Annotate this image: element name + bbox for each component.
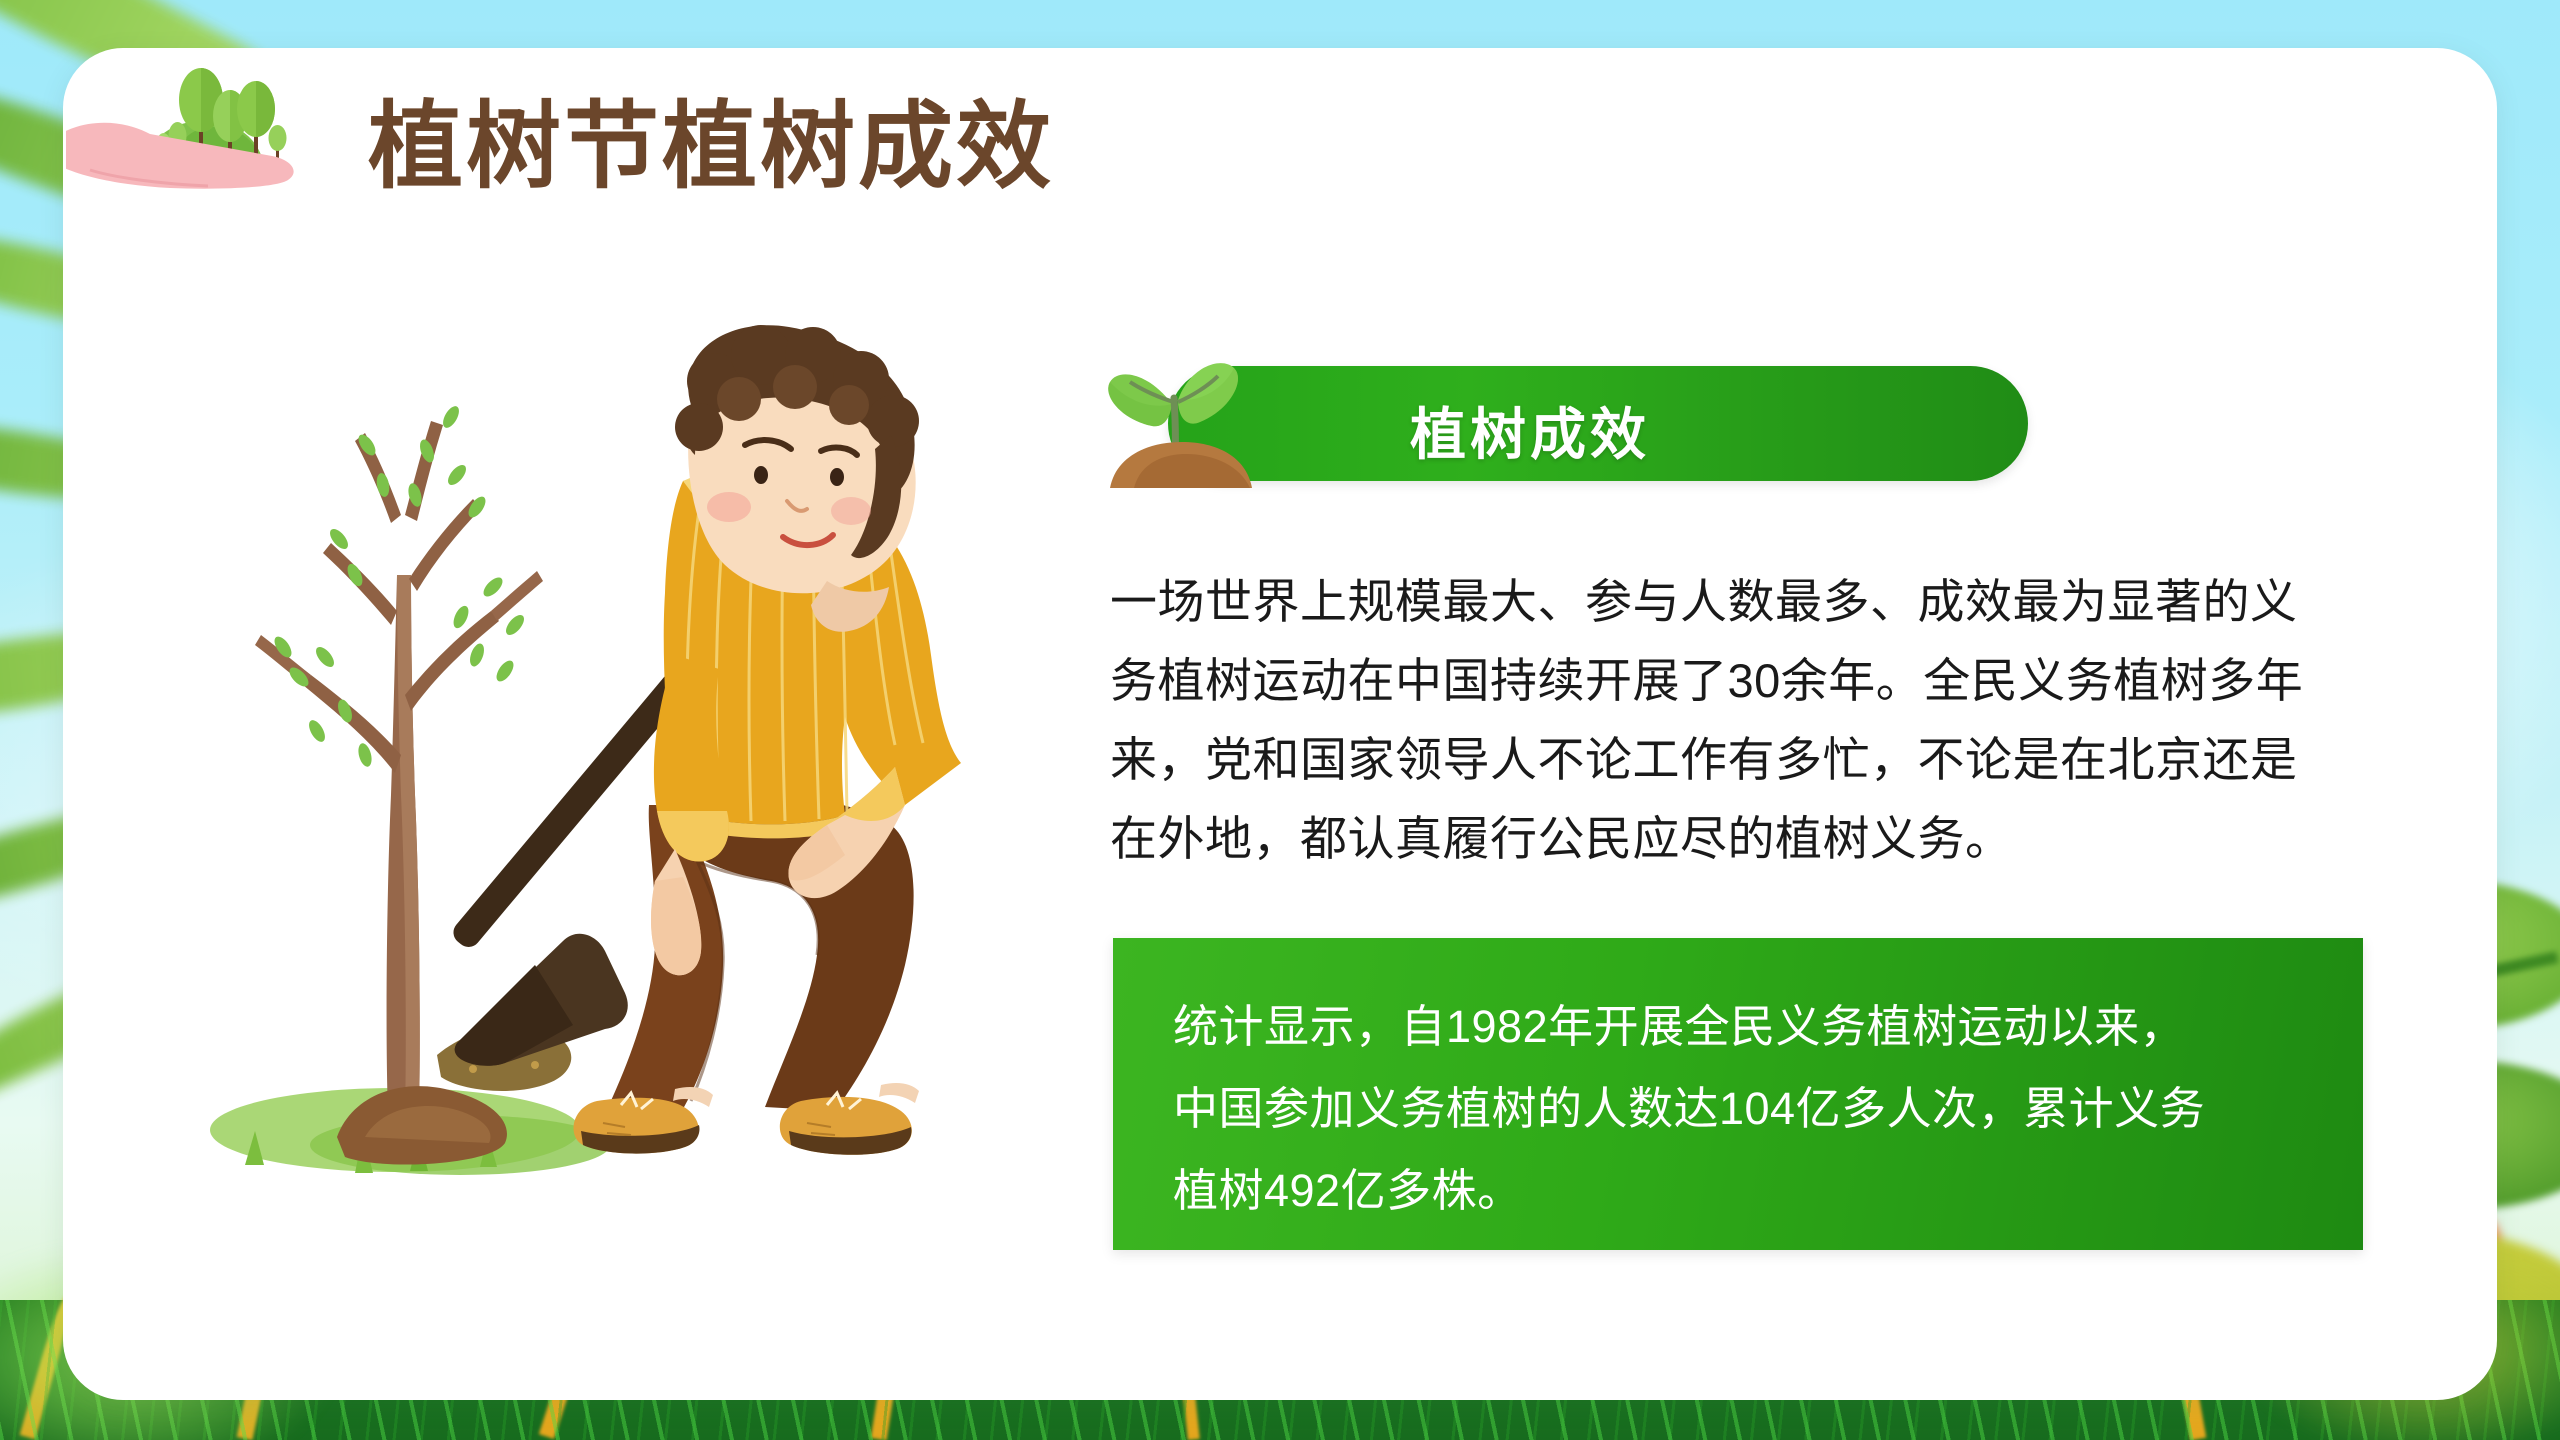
highlight-line: 统计显示，自1982年开展全民义务植树运动以来， xyxy=(1173,986,2333,1068)
page-title: 植树节植树成效 xyxy=(368,100,1054,195)
banner-label: 植树成效 xyxy=(1410,390,1770,471)
paragraph-line: 来，党和国家领导人不论工作有多忙，不论是在北京还是 xyxy=(1110,720,2380,799)
highlight-text: 统计显示，自1982年开展全民义务植树运动以来， 中国参加义务植树的人数达104… xyxy=(1173,986,2333,1232)
person-planting-tree-illustration xyxy=(205,325,1045,1215)
paragraph-line: 在外地，都认真履行公民应尽的植树义务。 xyxy=(1110,799,2380,878)
highlight-line: 中国参加义务植树的人数达104亿多人次，累计义务 xyxy=(1173,1068,2333,1150)
sprout-in-soil-icon xyxy=(1100,338,1280,518)
hand-holding-trees-icon xyxy=(66,60,316,190)
statistics-highlight-box: 统计显示，自1982年开展全民义务植树运动以来， 中国参加义务植树的人数达104… xyxy=(1113,938,2363,1250)
highlight-line: 植树492亿多株。 xyxy=(1173,1150,2333,1232)
paragraph-line: 务植树运动在中国持续开展了30余年。全民义务植树多年 xyxy=(1110,641,2380,720)
body-paragraph: 一场世界上规模最大、参与人数最多、成效最为显著的义 务植树运动在中国持续开展了3… xyxy=(1110,562,2380,878)
paragraph-line: 一场世界上规模最大、参与人数最多、成效最为显著的义 xyxy=(1110,562,2380,641)
